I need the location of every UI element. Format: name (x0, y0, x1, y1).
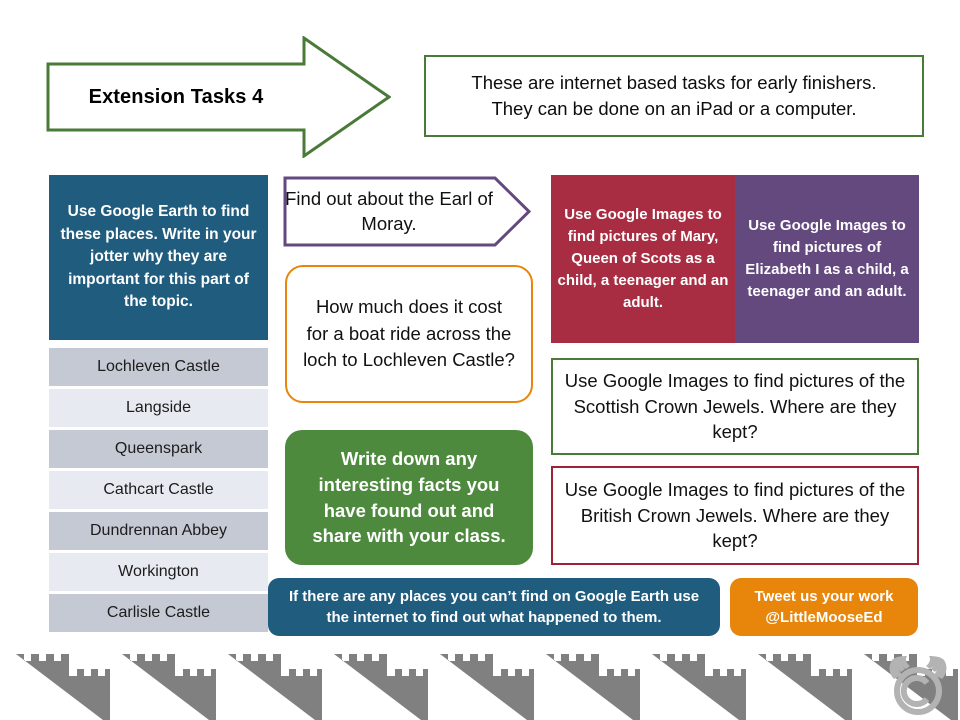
mary-queen-of-scots-box: Use Google Images to find pictures of Ma… (551, 175, 735, 343)
list-item[interactable]: Queenspark (49, 430, 268, 468)
list-item[interactable]: Cathcart Castle (49, 471, 268, 509)
castle-icon (430, 648, 534, 720)
places-panel-header: Use Google Earth to find these places. W… (49, 175, 268, 340)
share-facts-text: Write down any interesting facts you hav… (297, 446, 521, 550)
title-arrow-shape: Extension Tasks 4 (46, 36, 391, 158)
castle-icon (6, 648, 110, 720)
intro-line-1: These are internet based tasks for early… (471, 70, 876, 96)
castle-icon (112, 648, 216, 720)
tweet-banner[interactable]: Tweet us your work @LittleMooseEd (730, 578, 918, 636)
list-item[interactable]: Langside (49, 389, 268, 427)
moray-chevron-shape: Find out about the Earl of Moray. (283, 176, 531, 247)
castle-icon (218, 648, 322, 720)
places-not-found-text: If there are any places you can’t find o… (278, 586, 710, 629)
list-item[interactable]: Carlisle Castle (49, 594, 268, 632)
scottish-crown-jewels-box: Use Google Images to find pictures of th… (551, 358, 919, 455)
mary-queen-of-scots-text: Use Google Images to find pictures of Ma… (557, 204, 729, 315)
moose-copyright-logo (880, 654, 956, 716)
list-item[interactable]: Dundrennan Abbey (49, 512, 268, 550)
tweet-banner-handle: @LittleMooseEd (755, 607, 894, 628)
castle-icon (748, 648, 852, 720)
castle-icon (642, 648, 746, 720)
intro-line-2: They can be done on an iPad or a compute… (471, 96, 876, 122)
castle-footer-border (0, 648, 960, 720)
castle-icon (324, 648, 428, 720)
intro-text-box: These are internet based tasks for early… (424, 55, 924, 137)
elizabeth-i-box: Use Google Images to find pictures of El… (735, 175, 919, 343)
list-item[interactable]: Workington (49, 553, 268, 591)
moray-chevron-text: Find out about the Earl of Moray. (283, 176, 495, 247)
elizabeth-i-text: Use Google Images to find pictures of El… (741, 215, 913, 304)
boat-cost-text: How much does it cost for a boat ride ac… (303, 294, 515, 374)
places-panel: Use Google Earth to find these places. W… (49, 175, 268, 640)
castle-icon (536, 648, 640, 720)
page-title: Extension Tasks 4 (46, 36, 306, 158)
scottish-crown-jewels-text: Use Google Images to find pictures of th… (561, 368, 909, 445)
share-facts-box: Write down any interesting facts you hav… (285, 430, 533, 565)
boat-cost-box: How much does it cost for a boat ride ac… (285, 265, 533, 403)
tweet-banner-line-1: Tweet us your work (755, 586, 894, 607)
places-not-found-banner: If there are any places you can’t find o… (268, 578, 720, 636)
british-crown-jewels-box: Use Google Images to find pictures of th… (551, 466, 919, 565)
british-crown-jewels-text: Use Google Images to find pictures of th… (561, 477, 909, 554)
slide-canvas: Extension Tasks 4 These are internet bas… (0, 0, 960, 720)
list-item[interactable]: Lochleven Castle (49, 348, 268, 386)
